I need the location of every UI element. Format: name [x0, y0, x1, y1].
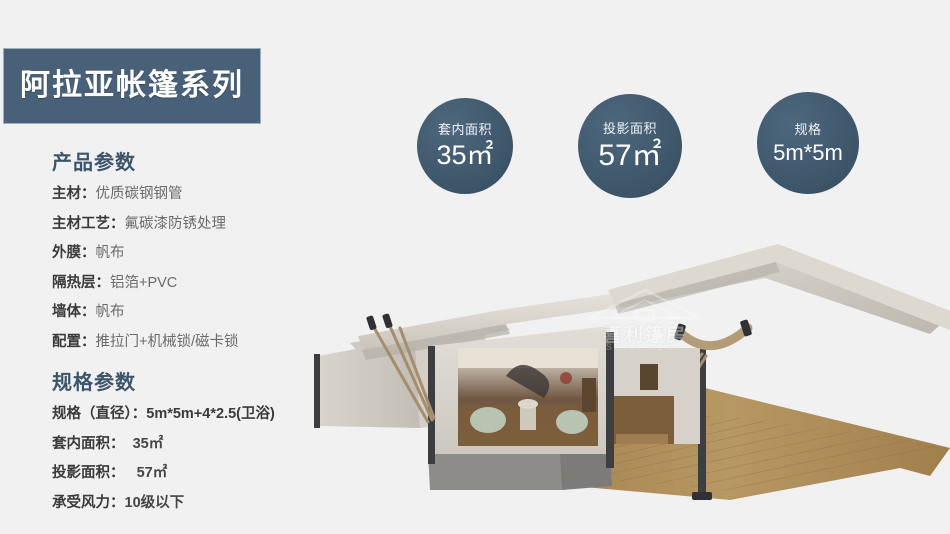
- product-params-heading: 产品参数: [52, 153, 352, 173]
- param-value: 10级以下: [125, 495, 185, 511]
- param-value: 57㎡: [137, 465, 168, 481]
- param-label: 配置：: [52, 334, 96, 350]
- param-value: 铝箔+PVC: [110, 275, 177, 291]
- param-label: 主材：: [52, 186, 96, 202]
- param-value: 推拉门+机械锁/磁卡锁: [96, 334, 239, 350]
- spec-params-heading: 规格参数: [52, 373, 352, 393]
- tent-illustration: 喜利篷房 SHILI TENT: [310, 238, 950, 508]
- param-label: 投影面积：: [52, 465, 125, 481]
- param-value: 帆布: [96, 245, 125, 261]
- param-label: 套内面积：: [52, 436, 125, 452]
- title-banner: 阿拉亚帐篷系列: [3, 48, 261, 124]
- spec-param-row: 投影面积： 57㎡: [52, 466, 352, 481]
- spec-param-row: 套内面积： 35㎡: [52, 437, 352, 452]
- stone-base: [428, 452, 562, 490]
- param-value: 35㎡: [133, 436, 164, 452]
- spec-param-row: 规格（直径）：5m*5m+4*2.5(卫浴): [52, 407, 352, 422]
- badge-label: 规格: [794, 123, 821, 136]
- badge-label: 投影面积: [603, 122, 657, 135]
- page-root: 阿拉亚帐篷系列 产品参数 主材：优质碳钢钢管 主材工艺：氟碳漆防锈处理 外膜：帆…: [0, 0, 950, 534]
- badge-projected-area: 投影面积 57㎡: [578, 94, 682, 198]
- badge-dimensions: 规格 5m*5m: [757, 92, 859, 194]
- page-title: 阿拉亚帐篷系列: [20, 71, 244, 101]
- param-label: 墙体：: [52, 304, 96, 320]
- badge-value: 57㎡: [598, 141, 661, 171]
- param-value: 氟碳漆防锈处理: [125, 216, 227, 232]
- hammock: [682, 328, 748, 346]
- badge-value: 35㎡: [436, 142, 493, 169]
- specification-column: 产品参数 主材：优质碳钢钢管 主材工艺：氟碳漆防锈处理 外膜：帆布 隔热层：铝箔…: [52, 153, 352, 525]
- badge-interior-area: 套内面积 35㎡: [417, 98, 513, 194]
- param-label: 隔热层：: [52, 275, 110, 291]
- spec-param-row: 承受风力：10级以下: [52, 496, 352, 511]
- product-param-row: 隔热层：铝箔+PVC: [52, 276, 352, 291]
- product-param-row: 主材：优质碳钢钢管: [52, 187, 352, 202]
- param-label: 规格（直径）：: [52, 406, 146, 422]
- badge-label: 套内面积: [438, 123, 492, 136]
- badge-value: 5m*5m: [773, 142, 843, 164]
- product-param-row: 墙体：帆布: [52, 305, 352, 320]
- param-label: 外膜：: [52, 245, 96, 261]
- support-post: [606, 332, 614, 468]
- param-label: 主材工艺：: [52, 216, 125, 232]
- param-label: 承受风力：: [52, 495, 125, 511]
- product-param-row: 配置：推拉门+机械锁/磁卡锁: [52, 335, 352, 350]
- param-value: 帆布: [96, 304, 125, 320]
- product-param-row: 主材工艺：氟碳漆防锈处理: [52, 217, 352, 232]
- param-value: 5m*5m+4*2.5(卫浴): [146, 406, 275, 422]
- param-value: 优质碳钢钢管: [96, 186, 183, 202]
- product-param-row: 外膜：帆布: [52, 246, 352, 261]
